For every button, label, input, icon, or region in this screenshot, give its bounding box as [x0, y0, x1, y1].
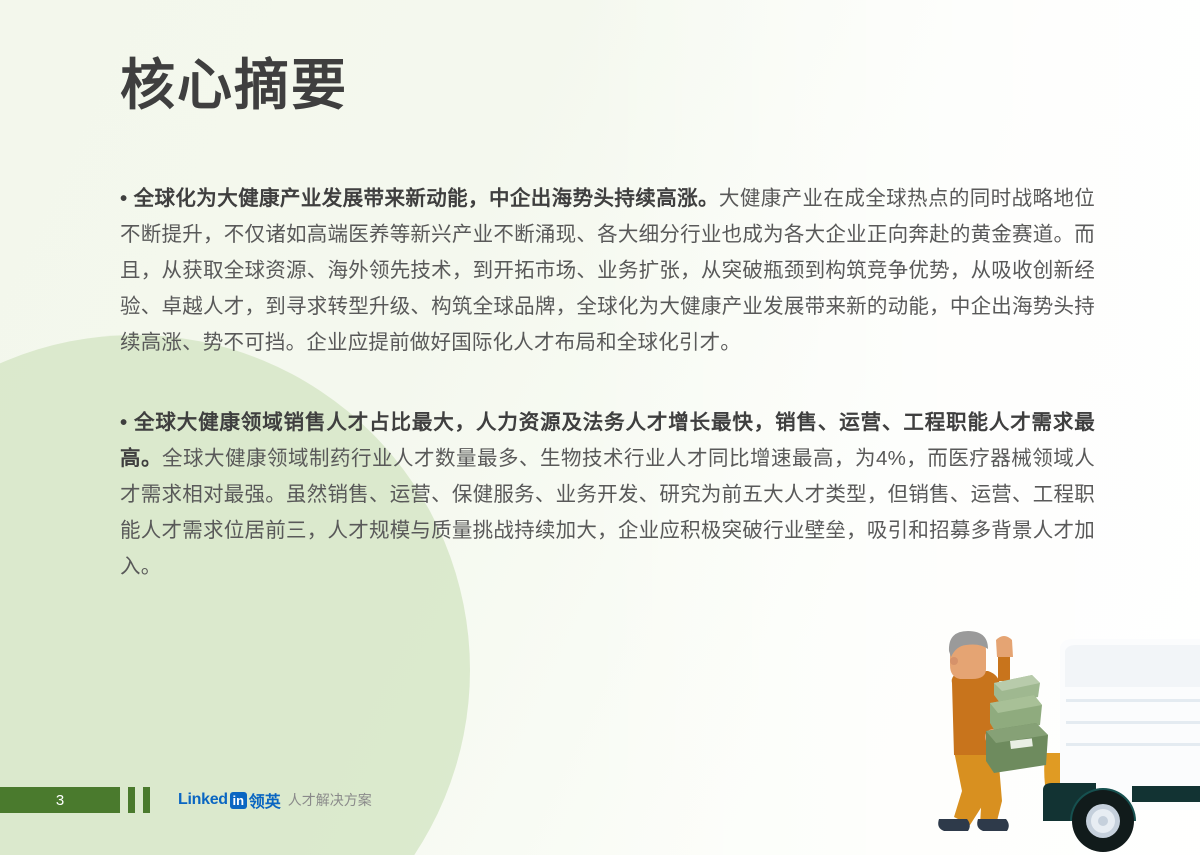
page-number-badge: 3: [0, 787, 120, 813]
bullet-paragraph-2: •全球大健康领域销售人才占比最大，人力资源及法务人才增长最快，销售、运营、工程职…: [120, 405, 1095, 585]
boxes-graphic: [986, 675, 1048, 773]
linkedin-wordmark: Linked: [178, 791, 228, 809]
bullet-1-lead: 全球化为大健康产业发展带来新动能，中企出海势头持续高涨。: [133, 187, 719, 210]
slide-core-summary: 核心摘要 •全球化为大健康产业发展带来新动能，中企出海势头持续高涨。大健康产业在…: [0, 0, 1200, 855]
bullet-2-body: 全球大健康领域制药行业人才数量最多、生物技术行业人才同比增速最高，为4%，而医疗…: [120, 447, 1095, 578]
brand-tagline: 人才解决方案: [288, 790, 372, 810]
linkedin-brand-lockup: Linked in 领英 人才解决方案: [178, 788, 372, 812]
footer: 3 Linked in 领英 人才解决方案: [0, 787, 372, 813]
linkedin-in-icon: in: [230, 792, 247, 809]
page-title: 核心摘要: [120, 52, 348, 118]
bullet-marker-icon: •: [120, 411, 127, 434]
bullet-1-body: 大健康产业在成全球热点的同时战略地位不断提升，不仅诸如高端医养等新兴产业不断涌现…: [120, 187, 1095, 354]
footer-tick-2: [143, 787, 150, 813]
bullet-paragraph-1: •全球化为大健康产业发展带来新动能，中企出海势头持续高涨。大健康产业在成全球热点…: [120, 181, 1095, 361]
van-graphic: [1043, 639, 1200, 852]
summary-content: •全球化为大健康产业发展带来新动能，中企出海势头持续高涨。大健康产业在成全球热点…: [120, 160, 1095, 605]
bullet-marker-icon: •: [120, 187, 127, 210]
footer-tick-1: [128, 787, 135, 813]
delivery-illustration: [910, 625, 1200, 855]
linkedin-chinese-name: 领英: [249, 788, 281, 812]
